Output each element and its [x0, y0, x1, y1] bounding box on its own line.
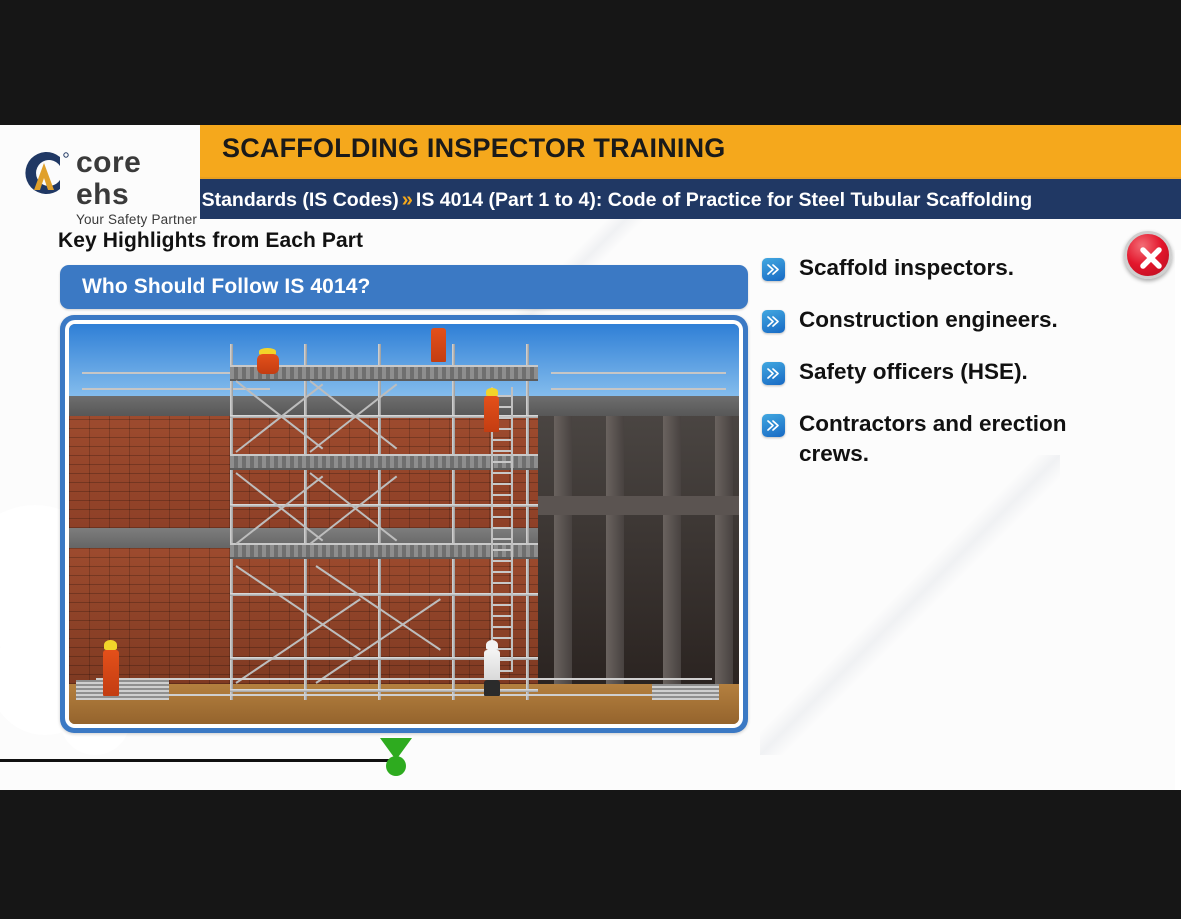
page-title: SCAFFOLDING INSPECTOR TRAINING	[222, 133, 726, 164]
playhead-marker-icon[interactable]	[380, 738, 412, 786]
slide-canvas: SCAFFOLDING INSPECTOR TRAINING ian Stand…	[0, 125, 1181, 790]
building-interior	[538, 416, 739, 684]
double-chevron-right-icon	[762, 414, 785, 437]
progress-track[interactable]	[0, 759, 390, 762]
list-item: Construction engineers.	[762, 305, 1102, 335]
breadcrumb-separator-icon: »	[399, 189, 416, 211]
list-item-label: Construction engineers.	[799, 305, 1058, 335]
scaffolding-illustration	[69, 324, 739, 724]
close-x-icon	[1134, 241, 1168, 275]
logo-wordmark: core ehs	[76, 147, 202, 211]
logo-tagline: Your Safety Partner	[76, 212, 202, 228]
worker-figure	[431, 328, 446, 362]
list-item-label: Scaffold inspectors.	[799, 253, 1014, 283]
watermark-diagonal	[760, 455, 1060, 755]
double-chevron-right-icon	[762, 310, 785, 333]
close-button[interactable]	[1124, 231, 1172, 279]
bullet-list: Scaffold inspectors. Construction engine…	[762, 253, 1102, 491]
roof-railing	[551, 388, 725, 390]
list-item: Contractors and erection crews.	[762, 409, 1102, 469]
section-heading: Key Highlights from Each Part	[58, 229, 363, 253]
core-ehs-c-a-monogram-icon	[16, 145, 72, 201]
plank-stack	[652, 684, 719, 700]
list-item-label: Safety officers (HSE).	[799, 357, 1028, 387]
question-chip-label: Who Should Follow IS 4014?	[82, 275, 370, 299]
breadcrumb-parent[interactable]: ian Standards (IS Codes)	[186, 189, 399, 211]
question-chip: Who Should Follow IS 4014?	[60, 265, 748, 309]
letterbox-top	[0, 0, 1181, 125]
site-fence	[96, 694, 712, 696]
slide-viewer: SCAFFOLDING INSPECTOR TRAINING ian Stand…	[0, 0, 1181, 919]
breadcrumb: ian Standards (IS Codes)»IS 4014 (Part 1…	[186, 186, 1181, 216]
illustration-frame	[60, 315, 748, 733]
roof-railing	[551, 372, 725, 374]
breadcrumb-current: IS 4014 (Part 1 to 4): Code of Practice …	[416, 189, 1032, 211]
double-chevron-right-icon	[762, 362, 785, 385]
worker-figure	[484, 388, 499, 432]
site-fence	[96, 678, 712, 680]
list-item-label: Contractors and erection crews.	[799, 409, 1102, 469]
worker-figure	[103, 640, 119, 696]
list-item: Safety officers (HSE).	[762, 357, 1102, 387]
list-item: Scaffold inspectors.	[762, 253, 1102, 283]
plank-stack	[76, 680, 170, 700]
brand-logo[interactable]: core ehs Your Safety Partner	[16, 143, 202, 207]
slide-header: SCAFFOLDING INSPECTOR TRAINING ian Stand…	[0, 125, 1181, 223]
worker-figure	[484, 640, 500, 696]
letterbox-bottom	[0, 790, 1181, 919]
double-chevron-right-icon	[762, 258, 785, 281]
worker-figure	[257, 348, 279, 374]
right-edge-strip	[1175, 250, 1181, 790]
